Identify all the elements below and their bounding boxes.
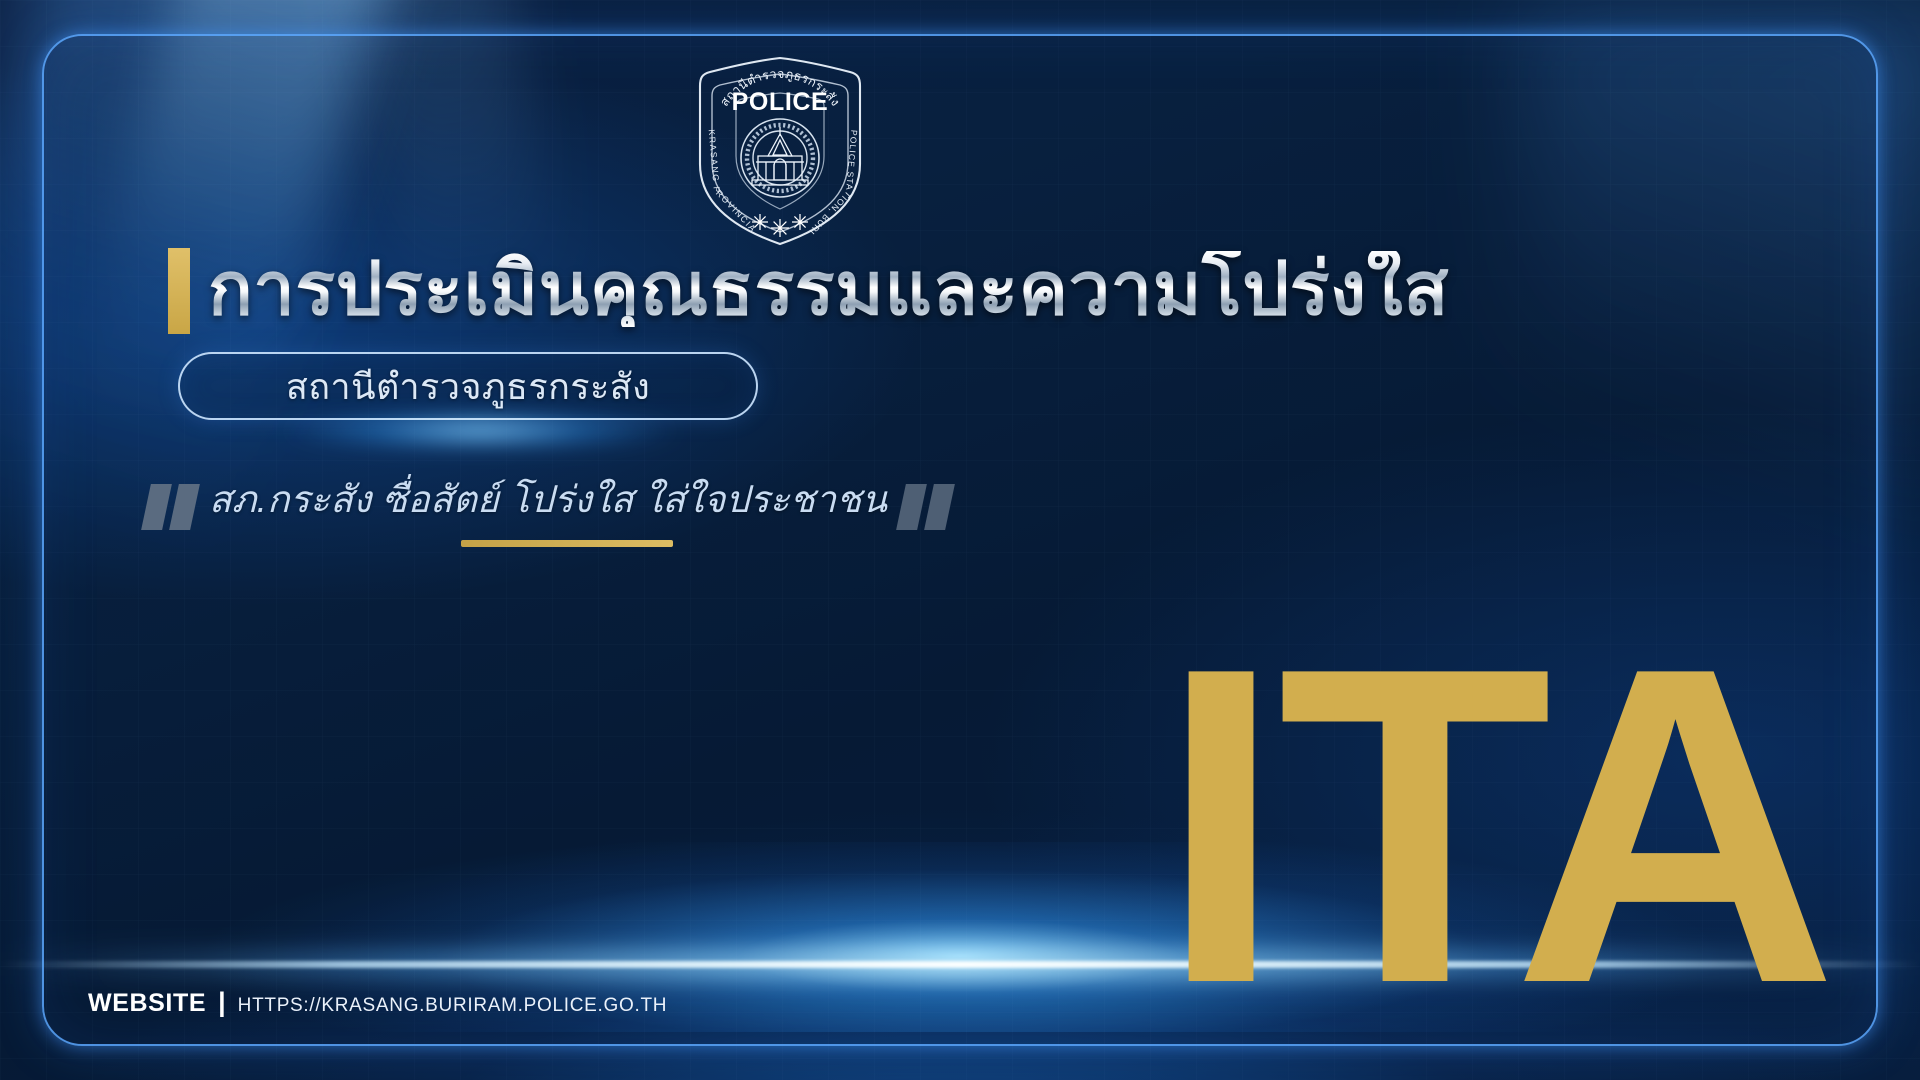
ita-wordmark: ITA (1159, 651, 1832, 1002)
footer-separator: | (218, 987, 226, 1018)
slogan-row: สภ.กระสัง ซื่อสัตย์ โปร่งใส ใส่ใจประชาชน (146, 478, 950, 530)
poster-canvas: สถานีตำรวจภูธรกระสัง POLICE KRASANG PROV… (0, 0, 1920, 1080)
footer-website-label: WEBSITE (88, 989, 206, 1018)
footer-website-url[interactable]: HTTPS://KRASANG.BURIRAM.POLICE.GO.TH (238, 995, 668, 1017)
station-name-label: สถานีตำรวจภูธรกระสัง (286, 358, 650, 415)
headline-row: การประเมินคุณธรรมและความโปร่งใส (168, 244, 1449, 334)
slogan-text: สภ.กระสัง ซื่อสัตย์ โปร่งใส ใส่ใจประชาชน (209, 478, 887, 522)
page-title: การประเมินคุณธรรมและความโปร่งใส (208, 251, 1449, 328)
quote-mark-close-icon (901, 484, 950, 530)
headline-gold-accent-bar (168, 248, 190, 334)
badge-police-word: POLICE (732, 88, 829, 116)
police-badge-logo: สถานีตำรวจภูธรกระสัง POLICE KRASANG PROV… (692, 52, 868, 248)
station-name-pill[interactable]: สถานีตำรวจภูธรกระสัง (178, 352, 758, 420)
slogan-gold-underline (461, 540, 673, 547)
footer-website: WEBSITE | HTTPS://KRASANG.BURIRAM.POLICE… (88, 987, 667, 1018)
quote-mark-open-icon (146, 484, 195, 530)
